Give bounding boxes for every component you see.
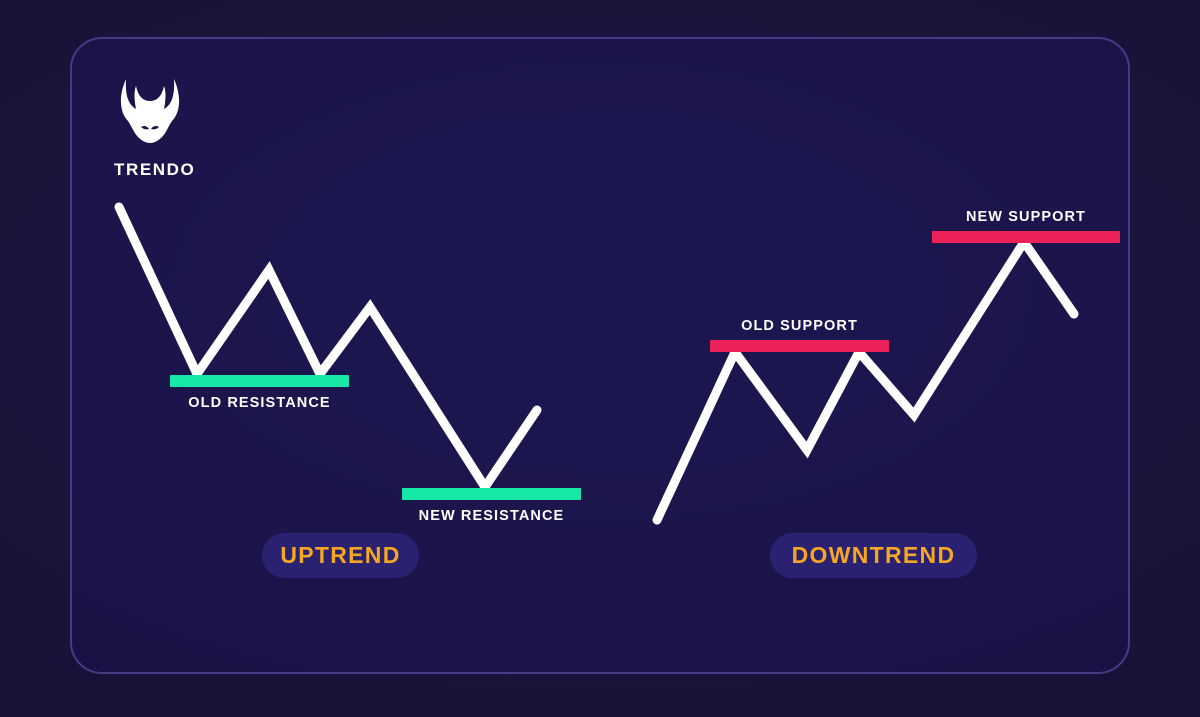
downtrend-line <box>657 242 1074 520</box>
uptrend-badge-label: UPTREND <box>280 542 400 569</box>
level-bar-old-support <box>710 340 889 352</box>
level-bar-old-resistance <box>170 375 349 387</box>
level-label-new-support: NEW SUPPORT <box>886 209 1166 225</box>
level-label-old-support: OLD SUPPORT <box>660 318 940 334</box>
price-lines <box>72 39 1132 676</box>
uptrend-badge[interactable]: UPTREND <box>262 533 419 578</box>
level-label-old-resistance: OLD RESISTANCE <box>120 395 400 411</box>
downtrend-badge[interactable]: DOWNTREND <box>770 533 977 578</box>
downtrend-badge-label: DOWNTREND <box>792 542 956 569</box>
diagram-card: TRENDO OLD RESISTANCENEW RESISTANCEOLD S… <box>70 37 1130 674</box>
level-label-new-resistance: NEW RESISTANCE <box>352 508 632 524</box>
level-bar-new-support <box>932 231 1120 243</box>
level-bar-new-resistance <box>402 488 581 500</box>
uptrend-line <box>119 207 537 487</box>
diagram-canvas: TRENDO OLD RESISTANCENEW RESISTANCEOLD S… <box>0 0 1200 717</box>
